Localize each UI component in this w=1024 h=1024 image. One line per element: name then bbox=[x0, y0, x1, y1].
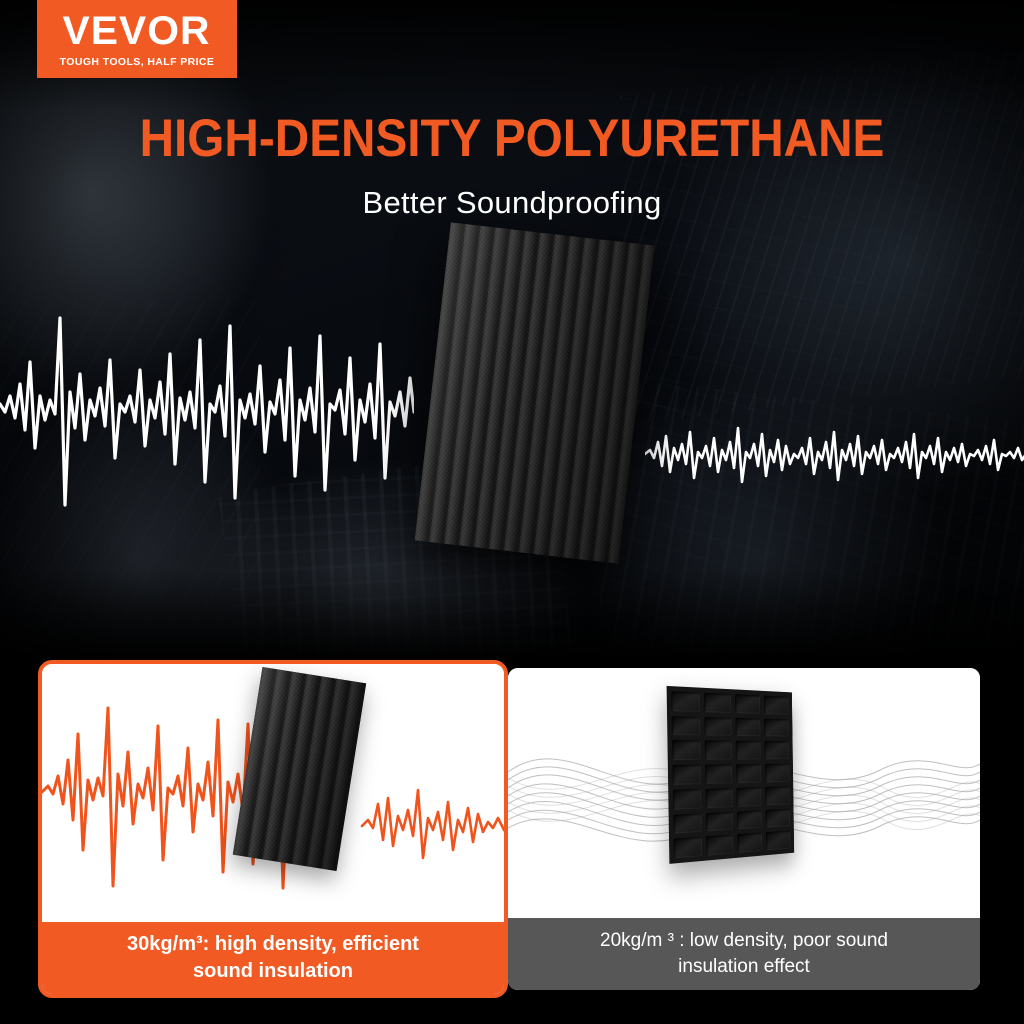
hero-foam-panel bbox=[415, 222, 655, 563]
high-density-visual bbox=[42, 664, 504, 922]
hero-incoming-waveform bbox=[0, 300, 414, 515]
foam-cells bbox=[671, 691, 790, 858]
high-density-caption: 30kg/m³: high density, efficient sound i… bbox=[42, 922, 504, 994]
foam-shading bbox=[415, 222, 655, 563]
hero-outgoing-waveform bbox=[645, 398, 1024, 508]
hero-bottom-fade bbox=[0, 570, 1024, 660]
product-infographic: HIGH-DENSITY POLYURETHANE Better Soundpr… bbox=[0, 0, 1024, 1024]
comparison-section: 20kg/m ³ : low density, poor sound insul… bbox=[0, 668, 1024, 1008]
page-subtitle: Better Soundproofing bbox=[0, 185, 1024, 221]
page-title: HIGH-DENSITY POLYURETHANE bbox=[51, 112, 973, 165]
low-density-visual bbox=[508, 668, 980, 918]
grid-foam-panel bbox=[667, 686, 795, 864]
comparison-card-high-density: 30kg/m³: high density, efficient sound i… bbox=[38, 660, 508, 998]
vevor-logo: VEVOR TOUGH TOOLS, HALF PRICE bbox=[37, 0, 237, 78]
high-density-caption-line2: sound insulation bbox=[193, 960, 353, 982]
high-density-caption-line1: 30kg/m³: high density, efficient bbox=[127, 933, 419, 955]
brand-tagline: TOUGH TOOLS, HALF PRICE bbox=[60, 56, 215, 68]
brand-name: VEVOR bbox=[63, 11, 211, 51]
low-density-caption: 20kg/m ³ : low density, poor sound insul… bbox=[508, 918, 980, 990]
low-density-caption-line2: insulation effect bbox=[678, 956, 810, 977]
comparison-card-low-density: 20kg/m ³ : low density, poor sound insul… bbox=[508, 668, 980, 990]
low-density-caption-line1: 20kg/m ³ : low density, poor sound bbox=[600, 930, 888, 951]
